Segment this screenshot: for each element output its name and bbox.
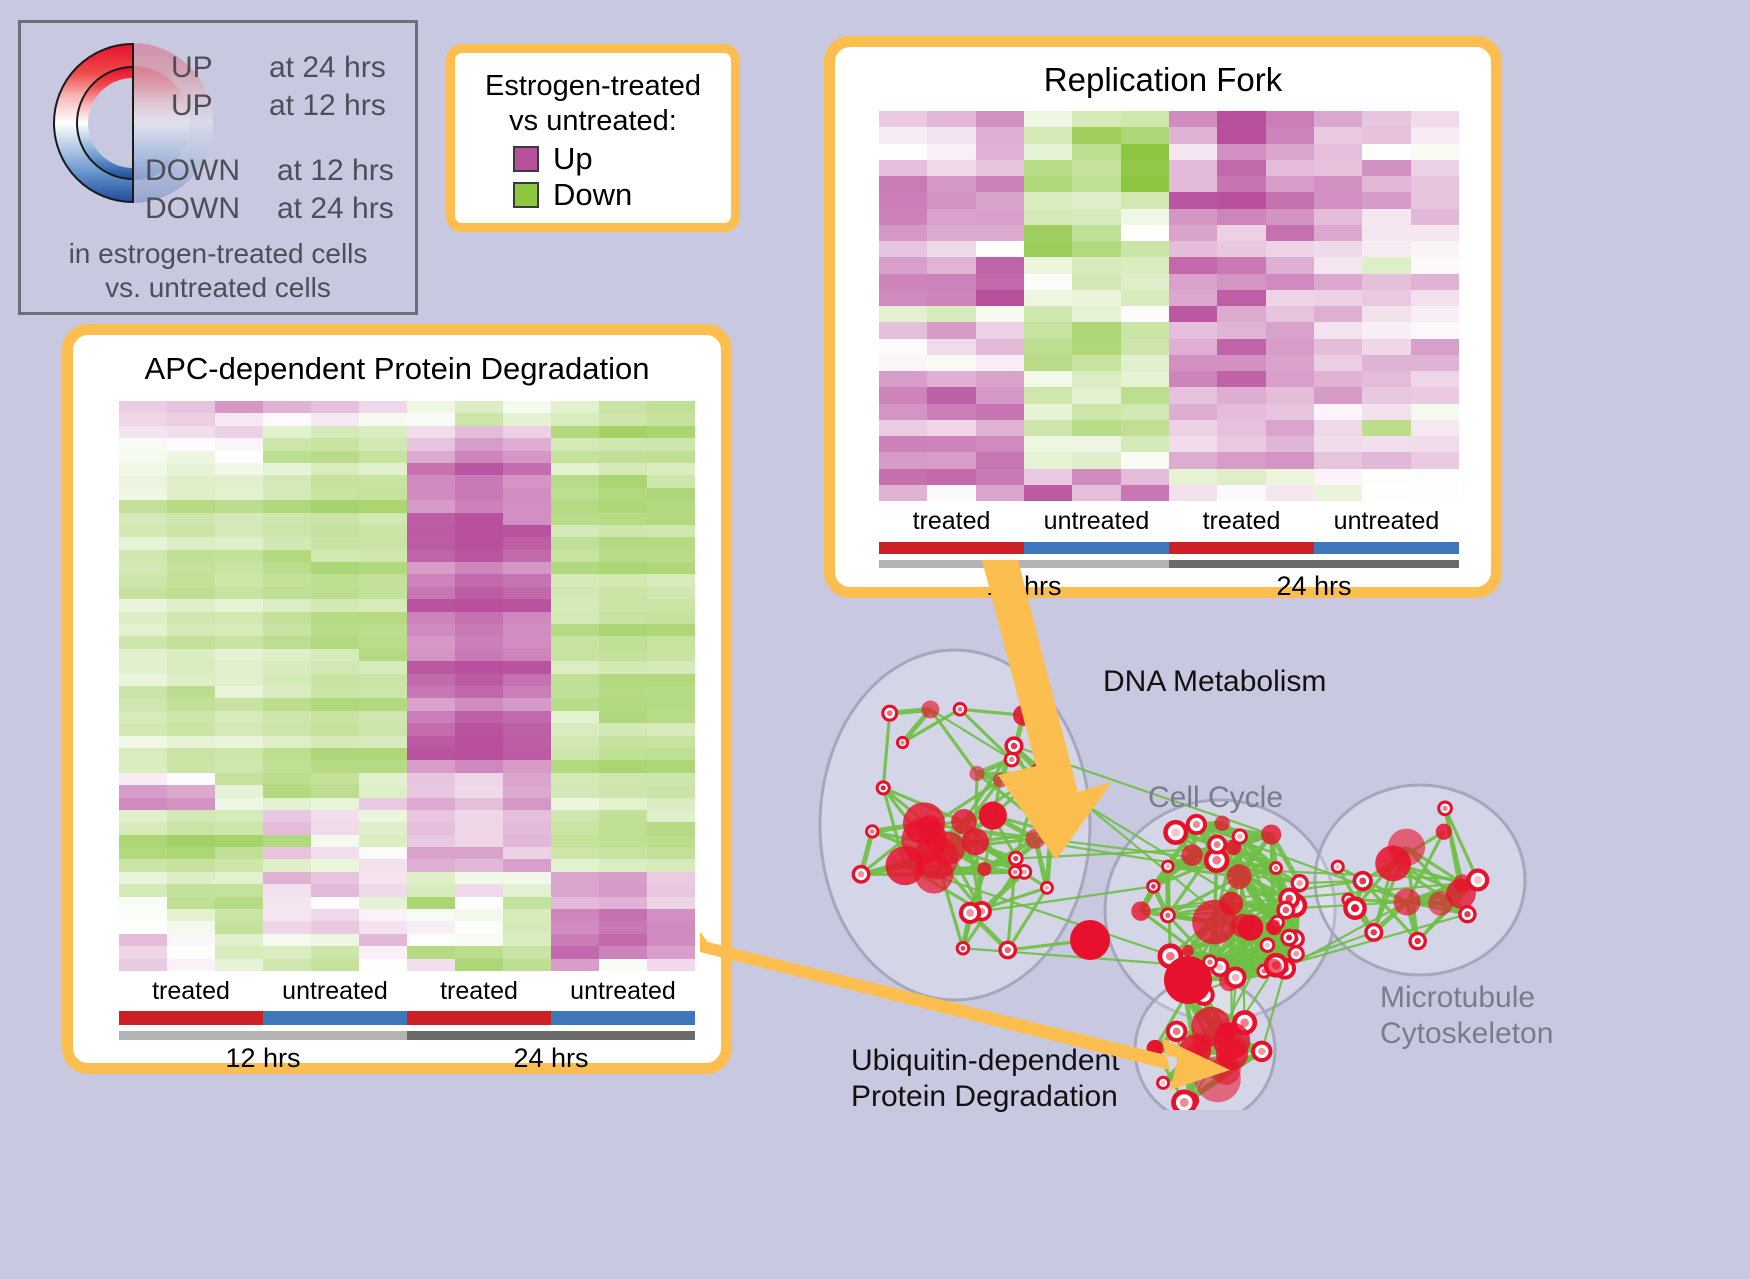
legend-title-line2: vs untreated: — [455, 104, 731, 139]
network-node[interactable] — [1410, 933, 1425, 948]
network-node[interactable] — [1227, 864, 1252, 889]
group-labels-apc: treateduntreatedtreateduntreated — [119, 977, 695, 1009]
bar-segment — [1024, 542, 1169, 554]
network-node[interactable] — [1282, 930, 1296, 944]
key-dir-0: UP — [171, 51, 213, 85]
key-time-3: at 24 hrs — [277, 192, 394, 226]
arrow-replication-fork-to-dna-metabolism — [960, 560, 1140, 880]
network-node[interactable] — [1388, 829, 1425, 866]
time-labels-apc: 12 hrs24 hrs — [119, 1043, 695, 1077]
network-node[interactable] — [1261, 939, 1274, 952]
network-node[interactable] — [1354, 873, 1371, 890]
key-time-2: at 12 hrs — [277, 154, 394, 188]
legend-label-up: Up — [553, 143, 593, 175]
legend-label-down: Down — [553, 179, 632, 211]
network-node[interactable] — [1266, 920, 1280, 934]
key-caption-line1: in estrogen-treated cells — [21, 237, 415, 271]
network-node[interactable] — [1436, 824, 1452, 840]
bar-segment — [263, 1011, 407, 1025]
network-node[interactable] — [883, 706, 897, 720]
network-node[interactable] — [1428, 891, 1453, 916]
bar-segment — [1169, 542, 1314, 554]
network-node[interactable] — [1166, 822, 1186, 842]
legend-item-down: Down — [513, 179, 731, 211]
network-node[interactable] — [921, 701, 939, 719]
network-node[interactable] — [1289, 947, 1303, 961]
network-node[interactable] — [1131, 901, 1150, 920]
key-time-1: at 12 hrs — [269, 89, 386, 123]
network-node[interactable] — [1332, 861, 1343, 872]
group-label-rf-1: untreated — [1024, 507, 1169, 539]
panel-apc-degradation: APC-dependent Protein Degradation treate… — [62, 324, 732, 1074]
network-node[interactable] — [1439, 802, 1452, 815]
network-node[interactable] — [918, 815, 941, 838]
network-node[interactable] — [1292, 876, 1307, 891]
group-label-apc-2: treated — [407, 977, 551, 1009]
panel-title-replication-fork: Replication Fork — [835, 61, 1491, 99]
network-node[interactable] — [1366, 925, 1382, 941]
network-node[interactable] — [1188, 816, 1205, 833]
group-label-apc-3: untreated — [551, 977, 695, 1009]
legend-swatch-down — [513, 182, 539, 208]
network-node[interactable] — [1278, 902, 1294, 918]
network-node[interactable] — [1393, 888, 1420, 915]
bar-segment — [407, 1031, 695, 1040]
heatmap-replication-fork — [879, 111, 1459, 501]
group-labels-replication-fork: treateduntreatedtreateduntreated — [879, 507, 1459, 539]
group-bar-apc — [119, 1011, 695, 1025]
network-node[interactable] — [1219, 892, 1243, 916]
group-label-rf-0: treated — [879, 507, 1024, 539]
bar-segment — [551, 1011, 695, 1025]
bar-segment — [119, 1011, 263, 1025]
network-node[interactable] — [1261, 824, 1281, 844]
cluster-label-microtubule-cytoskeleton: Microtubule Cytoskeleton — [1380, 980, 1553, 1052]
network-node[interactable] — [1162, 861, 1173, 872]
bar-segment — [407, 1011, 551, 1025]
key-caption-line2: vs. untreated cells — [21, 271, 415, 305]
network-node[interactable] — [1215, 816, 1230, 831]
network-node[interactable] — [1265, 959, 1282, 976]
network-node[interactable] — [1209, 836, 1225, 852]
figure-canvas: UP at 24 hrs UP at 12 hrs DOWN at 12 hrs… — [0, 0, 1750, 1279]
network-node[interactable] — [853, 867, 868, 882]
key-time-0: at 24 hrs — [269, 51, 386, 85]
group-label-rf-3: untreated — [1314, 507, 1459, 539]
group-label-apc-0: treated — [119, 977, 263, 1009]
ring-center-divider — [132, 43, 134, 203]
network-node[interactable] — [1468, 871, 1487, 890]
panel-replication-fork: Replication Fork treateduntreatedtreated… — [824, 36, 1502, 598]
arrow-apc-to-ubiquitin-cluster — [700, 930, 1260, 1090]
network-node[interactable] — [1233, 830, 1246, 843]
network-node[interactable] — [1181, 844, 1203, 866]
network-node[interactable] — [1161, 909, 1174, 922]
network-node[interactable] — [961, 904, 979, 922]
network-node[interactable] — [1041, 882, 1052, 893]
network-node[interactable] — [897, 737, 907, 747]
bar-segment — [1169, 560, 1459, 568]
group-label-apc-1: untreated — [263, 977, 407, 1009]
heatmap-apc — [119, 401, 695, 971]
network-node[interactable] — [877, 782, 889, 794]
time-label-apc-0: 12 hrs — [119, 1043, 407, 1077]
network-node[interactable] — [1345, 899, 1364, 918]
group-label-rf-2: treated — [1169, 507, 1314, 539]
bar-segment — [879, 542, 1024, 554]
panel-title-apc: APC-dependent Protein Degradation — [73, 351, 721, 387]
bar-segment — [119, 1031, 407, 1040]
color-key-box: UP at 24 hrs UP at 12 hrs DOWN at 12 hrs… — [18, 20, 418, 315]
bar-segment — [1314, 542, 1459, 554]
legend-swatch-up — [513, 146, 539, 172]
time-label-rf-1: 24 hrs — [1169, 571, 1459, 605]
cluster-label-cell-cycle: Cell Cycle — [1148, 780, 1283, 816]
key-dir-3: DOWN — [145, 192, 240, 226]
network-node[interactable] — [1148, 881, 1159, 892]
key-dir-1: UP — [171, 89, 213, 123]
legend-title-line1: Estrogen-treated — [455, 69, 731, 104]
network-node[interactable] — [1270, 863, 1281, 874]
legend-item-up: Up — [513, 143, 731, 175]
network-node[interactable] — [1460, 907, 1475, 922]
key-dir-2: DOWN — [145, 154, 240, 188]
network-node[interactable] — [1174, 1092, 1195, 1110]
network-node[interactable] — [867, 826, 878, 837]
group-bar-replication-fork — [879, 542, 1459, 554]
time-bar-apc — [119, 1031, 695, 1040]
legend-box: Estrogen-treated vs untreated: Up Down — [446, 44, 740, 232]
time-label-apc-1: 24 hrs — [407, 1043, 695, 1077]
